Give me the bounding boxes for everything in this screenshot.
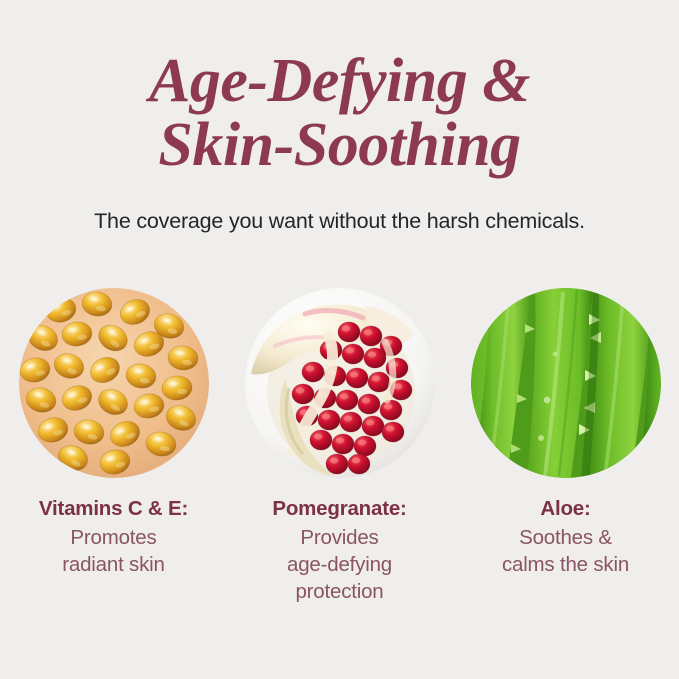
- ingredient-body-line: Promotes: [6, 524, 221, 551]
- ingredient-title: Pomegranate:: [232, 496, 447, 521]
- ingredient-column-vitamins: Vitamins C & E: Promotes radiant skin: [19, 288, 209, 578]
- headline-line-2: Skin-Soothing: [0, 114, 679, 176]
- infographic-page: Age-Defying & Skin-Soothing The coverage…: [0, 0, 679, 679]
- vitamin-capsules-image: [19, 288, 209, 478]
- ingredient-column-aloe: Aloe: Soothes & calms the skin: [471, 288, 661, 578]
- aloe-image: [471, 288, 661, 478]
- headline-line-1: Age-Defying &: [0, 50, 679, 112]
- ingredient-body-line: protection: [232, 578, 447, 605]
- ingredient-title: Vitamins C & E:: [6, 496, 221, 521]
- subtitle: The coverage you want without the harsh …: [0, 208, 679, 234]
- ingredient-caption: Vitamins C & E: Promotes radiant skin: [6, 496, 221, 578]
- ingredient-caption: Aloe: Soothes & calms the skin: [458, 496, 673, 578]
- ingredient-body: Soothes & calms the skin: [458, 524, 673, 578]
- ingredient-caption: Pomegranate: Provides age-defying protec…: [232, 496, 447, 605]
- ingredient-body-line: Soothes &: [458, 524, 673, 551]
- ingredient-body-line: age-defying: [232, 551, 447, 578]
- ingredient-body: Provides age-defying protection: [232, 524, 447, 605]
- pomegranate-image: [245, 288, 435, 478]
- page-title: Age-Defying & Skin-Soothing: [0, 50, 679, 176]
- ingredient-body: Promotes radiant skin: [6, 524, 221, 578]
- ingredient-body-line: Provides: [232, 524, 447, 551]
- ingredient-title: Aloe:: [458, 496, 673, 521]
- ingredient-body-line: radiant skin: [6, 551, 221, 578]
- ingredient-columns: Vitamins C & E: Promotes radiant skin: [0, 288, 679, 605]
- ingredient-body-line: calms the skin: [458, 551, 673, 578]
- ingredient-column-pomegranate: Pomegranate: Provides age-defying protec…: [245, 288, 435, 605]
